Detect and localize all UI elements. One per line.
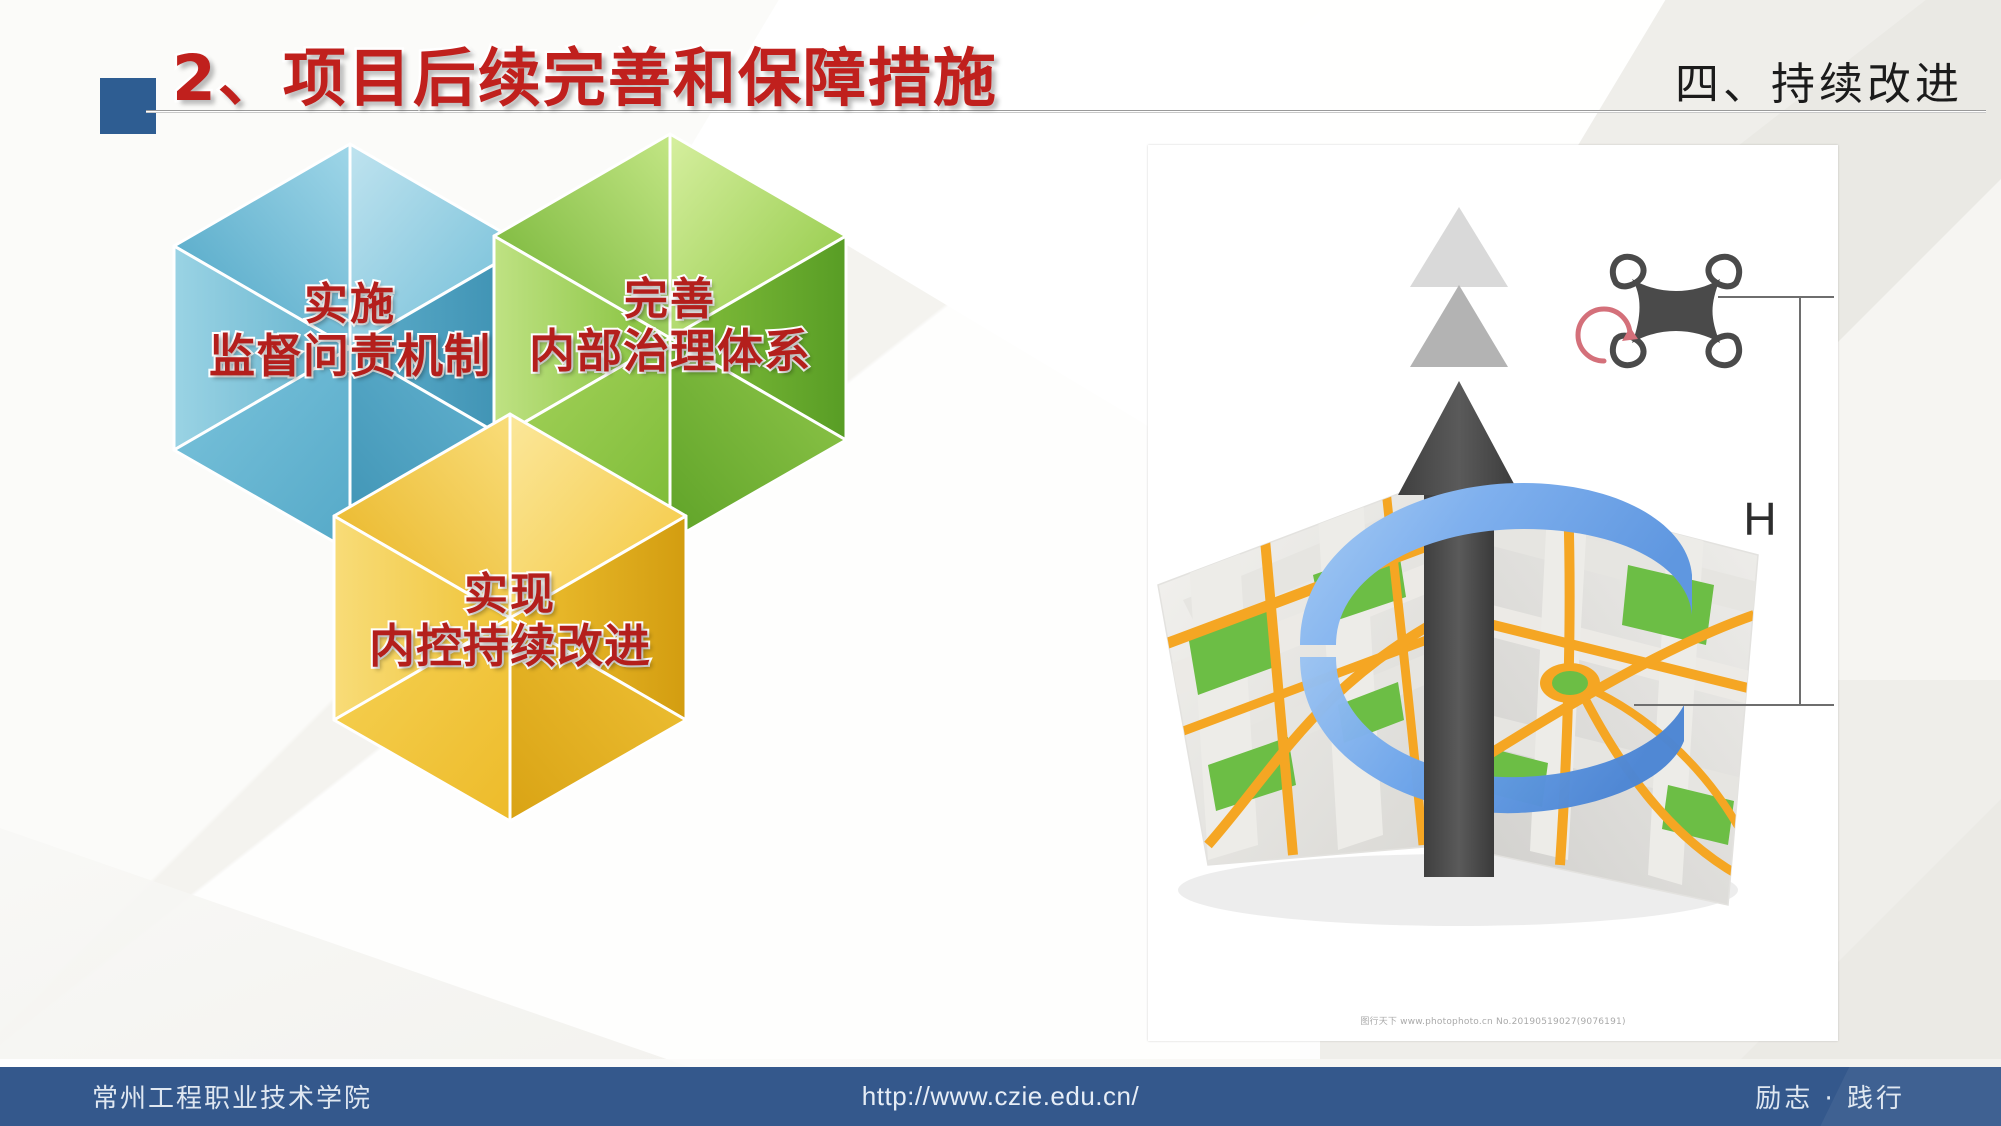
illustration-watermark-caption: 图行天下 www.photophoto.cn No.20190519027(90… bbox=[1148, 1014, 1838, 1027]
hexagon-yellow[interactable]: 实现 内控持续改进 bbox=[330, 410, 690, 825]
footer-bar: 常州工程职业技术学院 http://www.czie.edu.cn/ 励志 · … bbox=[0, 1067, 2001, 1126]
hexagon-cluster: 实施 监督问责机制 bbox=[150, 130, 890, 850]
title-accent-square bbox=[100, 78, 156, 134]
height-marker-label: H bbox=[1743, 493, 1776, 545]
footer-motto: 励志 · 践行 bbox=[1755, 1067, 1905, 1126]
section-label: 四、持续改进 bbox=[1675, 48, 1963, 112]
slide-canvas: 2、项目后续完善和保障措施 四、持续改进 bbox=[0, 0, 2001, 1126]
drone-icon bbox=[1578, 257, 1739, 365]
footer-divider bbox=[0, 1059, 2001, 1067]
page-title: 2、项目后续完善和保障措施 bbox=[172, 28, 998, 119]
footer-url[interactable]: http://www.czie.edu.cn/ bbox=[0, 1067, 2001, 1126]
illustration-panel: H 图行天下 www.photophoto.cn No.20190519027(… bbox=[1148, 145, 1838, 1041]
drone-altitude-illustration: H bbox=[1148, 145, 1838, 1041]
